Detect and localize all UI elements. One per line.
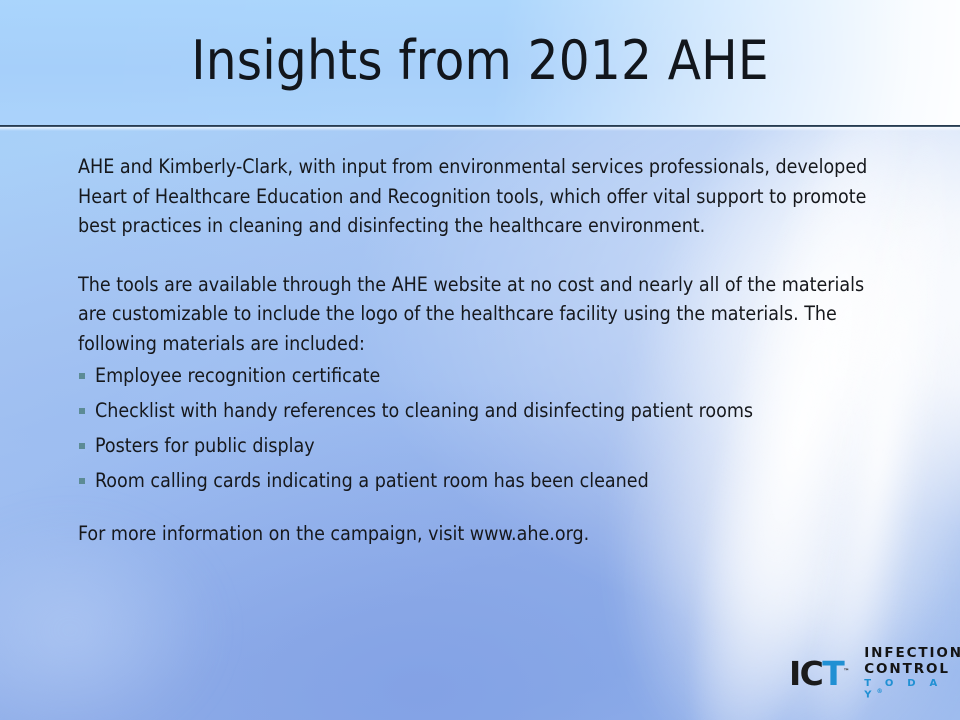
list-item: Posters for public display [78, 428, 878, 463]
list-item: Room calling cards indicating a patient … [78, 463, 878, 498]
ict-logo: ICT™ INFECTION CONTROL T O D A Y® [789, 652, 941, 696]
title-divider-highlight [0, 127, 960, 131]
ict-mark-dark: IC [789, 654, 822, 693]
registered-symbol: ® [877, 688, 883, 695]
page-title: Insights from 2012 AHE [0, 32, 960, 89]
slide-header-band: Insights from 2012 AHE [0, 0, 960, 126]
list-item-label: Employee recognition certificate [95, 364, 380, 387]
slide-body: AHE and Kimberly-Clark, with input from … [78, 152, 878, 549]
list-item: Checklist with handy references to clean… [78, 393, 878, 428]
logo-wordmark-text: INFECTION CONTROL T O D A Y® [864, 647, 960, 700]
square-bullet-icon [79, 408, 85, 414]
square-bullet-icon [79, 443, 85, 449]
body-paragraph-2: The tools are available through the AHE … [78, 270, 873, 359]
logo-line-infection: INFECTION [864, 647, 960, 661]
ict-wordmark-icon: ICT™ [789, 657, 849, 690]
square-bullet-icon [79, 373, 85, 379]
list-item-label: Room calling cards indicating a patient … [95, 469, 649, 492]
trademark-symbol: ™ [843, 668, 849, 675]
logo-line-control: CONTROL [864, 663, 960, 677]
ict-mark-accent: T [822, 654, 843, 693]
square-bullet-icon [79, 478, 85, 484]
body-paragraph-1: AHE and Kimberly-Clark, with input from … [78, 152, 873, 241]
materials-bullet-list: Employee recognition certificate Checkli… [78, 358, 878, 498]
list-item-label: Checklist with handy references to clean… [95, 399, 753, 422]
list-item: Employee recognition certificate [78, 358, 878, 393]
logo-line-today: T O D A Y® [864, 679, 960, 700]
slide-canvas: Insights from 2012 AHE AHE and Kimberly-… [0, 0, 960, 720]
closing-line: For more information on the campaign, vi… [78, 519, 878, 549]
list-item-label: Posters for public display [95, 434, 315, 457]
